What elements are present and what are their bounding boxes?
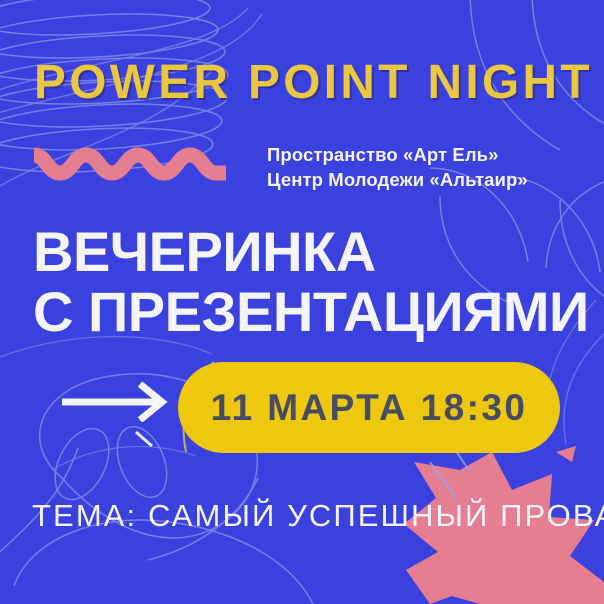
theme-line: ТЕМА: САМЫЙ УСПЕШНЫЙ ПРОВАЛ (32, 498, 604, 534)
arrow-right-icon (60, 382, 168, 422)
venue-line-2: Центр Молодежи «Альтаир» (267, 167, 528, 192)
venue-block: Пространство «Арт Ель» Центр Молодежи «А… (267, 142, 528, 192)
date-badge[interactable]: 11 МАРТА 18:30 (178, 362, 560, 453)
wavy-line-icon (32, 143, 228, 185)
headline-line-2: С ПРЕЗЕНТАЦИЯМИ (33, 282, 589, 342)
page-title: POWER POINT NIGHT (34, 58, 576, 108)
date-badge-label: 11 МАРТА 18:30 (211, 387, 528, 429)
headline-line-1: ВЕЧЕРИНКА (33, 222, 589, 282)
venue-line-1: Пространство «Арт Ель» (267, 142, 528, 167)
headline-block: ВЕЧЕРИНКА С ПРЕЗЕНТАЦИЯМИ (33, 222, 589, 342)
streak-line-white-icon (136, 432, 152, 446)
streak-lines-icon (430, 448, 470, 498)
pink-chip-icon (556, 446, 576, 462)
poster-canvas: POWER POINT NIGHT Пространство «Арт Ель»… (0, 0, 604, 604)
